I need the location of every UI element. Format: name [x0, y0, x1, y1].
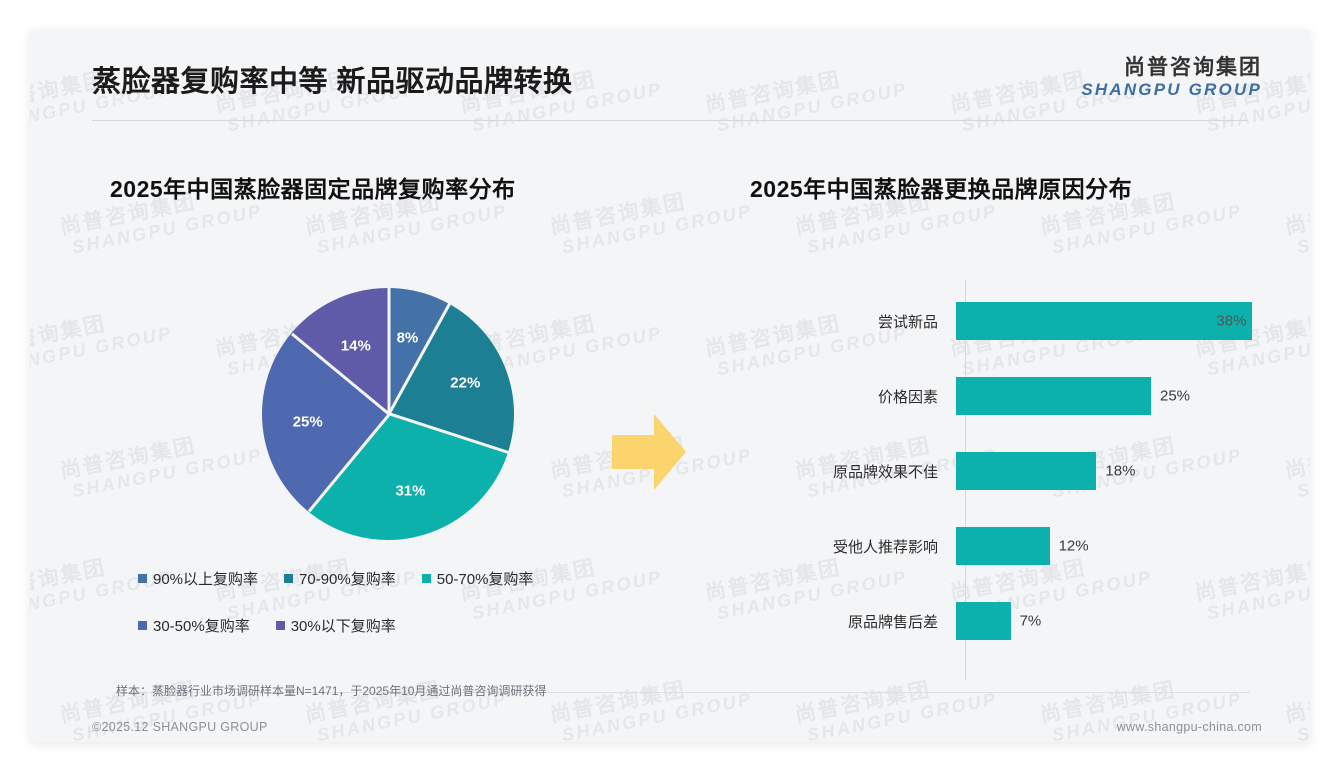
bar-value-label: 38%	[1216, 313, 1246, 330]
watermark-tile: 尚普咨询集团SHANGPU GROUP	[547, 661, 754, 742]
legend-swatch-icon	[276, 621, 285, 630]
bar-category-label: 受他人推荐影响	[758, 536, 956, 557]
bar-category-label: 尝试新品	[758, 311, 956, 332]
footer-copyright: ©2025.12 SHANGPU GROUP	[92, 720, 268, 734]
bar-value-label: 12%	[1059, 538, 1089, 555]
bar-row: 价格因素25%	[758, 377, 1288, 415]
bar-fill[interactable]	[956, 302, 1252, 340]
sample-note: 样本：蒸脸器行业市场调研样本量N=1471，于2025年10月通过尚普咨询调研获…	[116, 682, 546, 699]
pie-slice-label: 8%	[397, 330, 419, 347]
bar-track: 38%	[956, 302, 1288, 340]
legend-row: 30-50%复购率30%以下复购率	[138, 615, 658, 636]
panel-repurchase-rate: 2025年中国蒸脸器固定品牌复购率分布 8%22%31%25%14% 90%以上…	[110, 170, 670, 670]
bar-track: 25%	[956, 377, 1288, 415]
legend-item[interactable]: 90%以上复购率	[138, 568, 258, 589]
pie-slice-separator	[388, 288, 391, 414]
legend-label: 30%以下复购率	[291, 615, 396, 636]
legend-item[interactable]: 70-90%复购率	[284, 568, 396, 589]
bar-row: 受他人推荐影响12%	[758, 527, 1288, 565]
logo-chinese-text: 尚普咨询集团	[1081, 56, 1262, 80]
legend-row: 90%以上复购率70-90%复购率50-70%复购率	[138, 568, 658, 589]
slide-header: 蒸脸器复购率中等 新品驱动品牌转换 尚普咨询集团 SHANGPU GROUP	[30, 30, 1310, 122]
panel-switch-reasons: 2025年中国蒸脸器更换品牌原因分布 尝试新品38%价格因素25%原品牌效果不佳…	[750, 170, 1290, 670]
bar-category-label: 原品牌效果不佳	[758, 461, 956, 482]
legend-swatch-icon	[138, 621, 147, 630]
bar-fill[interactable]	[956, 527, 1050, 565]
legend-label: 90%以上复购率	[153, 568, 258, 589]
bar-track: 18%	[956, 452, 1288, 490]
legend-swatch-icon	[138, 574, 147, 583]
page-title: 蒸脸器复购率中等 新品驱动品牌转换	[92, 58, 573, 100]
bar-value-label: 7%	[1020, 613, 1042, 630]
bar-row: 原品牌售后差7%	[758, 602, 1288, 640]
legend-label: 70-90%复购率	[299, 568, 396, 589]
pie-slice-label: 22%	[450, 375, 480, 392]
bar-row: 尝试新品38%	[758, 302, 1288, 340]
arrow-right-icon	[608, 408, 690, 496]
bar-fill[interactable]	[956, 377, 1151, 415]
header-divider	[92, 120, 1248, 121]
bar-category-label: 价格因素	[758, 386, 956, 407]
brand-logo: 尚普咨询集团 SHANGPU GROUP	[1081, 56, 1262, 100]
legend-item[interactable]: 30%以下复购率	[276, 615, 396, 636]
bar-value-label: 18%	[1105, 463, 1135, 480]
slide-card: 尚普咨询集团SHANGPU GROUP尚普咨询集团SHANGPU GROUP尚普…	[30, 30, 1310, 742]
pie-legend: 90%以上复购率70-90%复购率50-70%复购率30-50%复购率30%以下…	[138, 568, 658, 662]
bar-value-label: 25%	[1160, 388, 1190, 405]
slide-root: 尚普咨询集团SHANGPU GROUP尚普咨询集团SHANGPU GROUP尚普…	[0, 0, 1340, 780]
pie-slice-label: 25%	[293, 413, 323, 430]
logo-english-text: SHANGPU GROUP	[1081, 80, 1262, 100]
pie-slice-label: 31%	[395, 483, 425, 500]
bar-chart: 尝试新品38%价格因素25%原品牌效果不佳18%受他人推荐影响12%原品牌售后差…	[758, 280, 1288, 680]
legend-label: 30-50%复购率	[153, 615, 250, 636]
legend-swatch-icon	[422, 574, 431, 583]
bar-track: 12%	[956, 527, 1288, 565]
left-chart-title: 2025年中国蒸脸器固定品牌复购率分布	[110, 170, 670, 204]
bar-row: 原品牌效果不佳18%	[758, 452, 1288, 490]
legend-item[interactable]: 30-50%复购率	[138, 615, 250, 636]
watermark-tile: 尚普咨询集团SHANGPU GROUP	[302, 661, 509, 742]
footer-website[interactable]: www.shangpu-china.com	[1117, 720, 1262, 734]
legend-label: 50-70%复购率	[437, 568, 534, 589]
bar-track: 7%	[956, 602, 1288, 640]
bar-fill[interactable]	[956, 602, 1011, 640]
pie-slice-label: 14%	[341, 337, 371, 354]
legend-swatch-icon	[284, 574, 293, 583]
right-chart-title: 2025年中国蒸脸器更换品牌原因分布	[750, 170, 1290, 204]
bar-category-label: 原品牌售后差	[758, 611, 956, 632]
legend-item[interactable]: 50-70%复购率	[422, 568, 534, 589]
pie-chart: 8%22%31%25%14%	[262, 288, 514, 540]
bar-fill[interactable]	[956, 452, 1096, 490]
